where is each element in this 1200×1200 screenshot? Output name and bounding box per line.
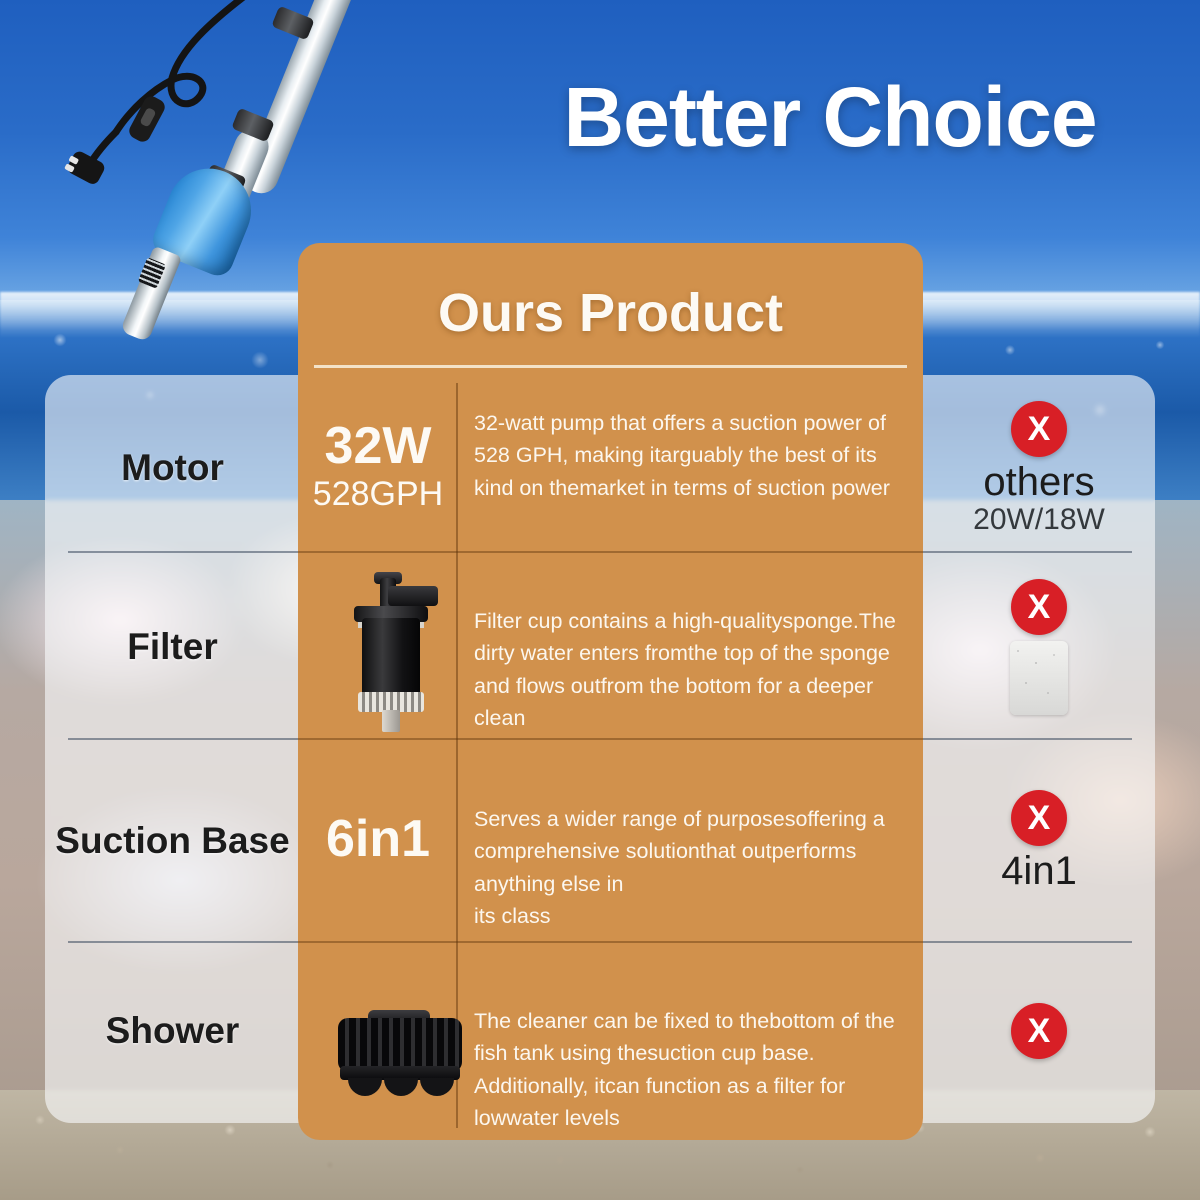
ours-description-filter: Filter cup contains a high-qualitysponge… bbox=[474, 605, 898, 734]
ours-description-suction-base: Serves a wider range of purposesoffering… bbox=[474, 803, 898, 932]
others-cell-suction-base: X 4in1 bbox=[923, 743, 1155, 939]
infographic-canvas: Better Choice Motor Filter bbox=[0, 0, 1200, 1200]
others-suction-value: 4in1 bbox=[1001, 850, 1077, 892]
ours-description-shower: The cleaner can be fixed to thebottom of… bbox=[474, 1005, 898, 1134]
filter-cup-icon bbox=[336, 572, 448, 732]
feature-label-shower: Shower bbox=[45, 945, 300, 1117]
page-title: Better Choice bbox=[500, 62, 1160, 172]
feature-label-suction-base: Suction Base bbox=[45, 743, 300, 939]
others-motor-watt: 20W/18W bbox=[973, 503, 1105, 536]
sponge-icon bbox=[1010, 641, 1068, 715]
ours-spec-motor-watt: 32W bbox=[325, 419, 432, 473]
x-mark-icon: X bbox=[1011, 579, 1067, 635]
x-mark-icon: X bbox=[1011, 790, 1067, 846]
others-label: others bbox=[983, 461, 1094, 503]
ours-spec-motor-gph: 528GPH bbox=[313, 475, 443, 514]
card-row-divider-3 bbox=[298, 941, 923, 943]
feature-label-column: Motor Filter Suction Base Shower bbox=[45, 375, 300, 1123]
ours-spec-suction-value: 6in1 bbox=[326, 812, 430, 866]
feature-label-filter: Filter bbox=[45, 557, 300, 737]
ours-description-motor: 32-watt pump that offers a suction power… bbox=[474, 407, 898, 504]
title-divider bbox=[314, 365, 907, 368]
x-mark-icon: X bbox=[1011, 1003, 1067, 1059]
others-cell-motor: X others 20W/18W bbox=[923, 385, 1155, 551]
feature-label-motor: Motor bbox=[45, 385, 300, 551]
others-cell-filter: X bbox=[923, 557, 1155, 737]
ours-spec-motor: 32W 528GPH bbox=[304, 383, 452, 551]
ours-product-title: Ours Product bbox=[298, 265, 923, 361]
x-mark-icon: X bbox=[1011, 401, 1067, 457]
others-cell-shower: X bbox=[923, 945, 1155, 1117]
others-column: X others 20W/18W X X 4in1 X bbox=[923, 375, 1155, 1123]
shower-base-icon bbox=[330, 1010, 470, 1106]
ours-spec-suction-base: 6in1 bbox=[304, 738, 452, 941]
card-row-divider-1 bbox=[298, 551, 923, 553]
